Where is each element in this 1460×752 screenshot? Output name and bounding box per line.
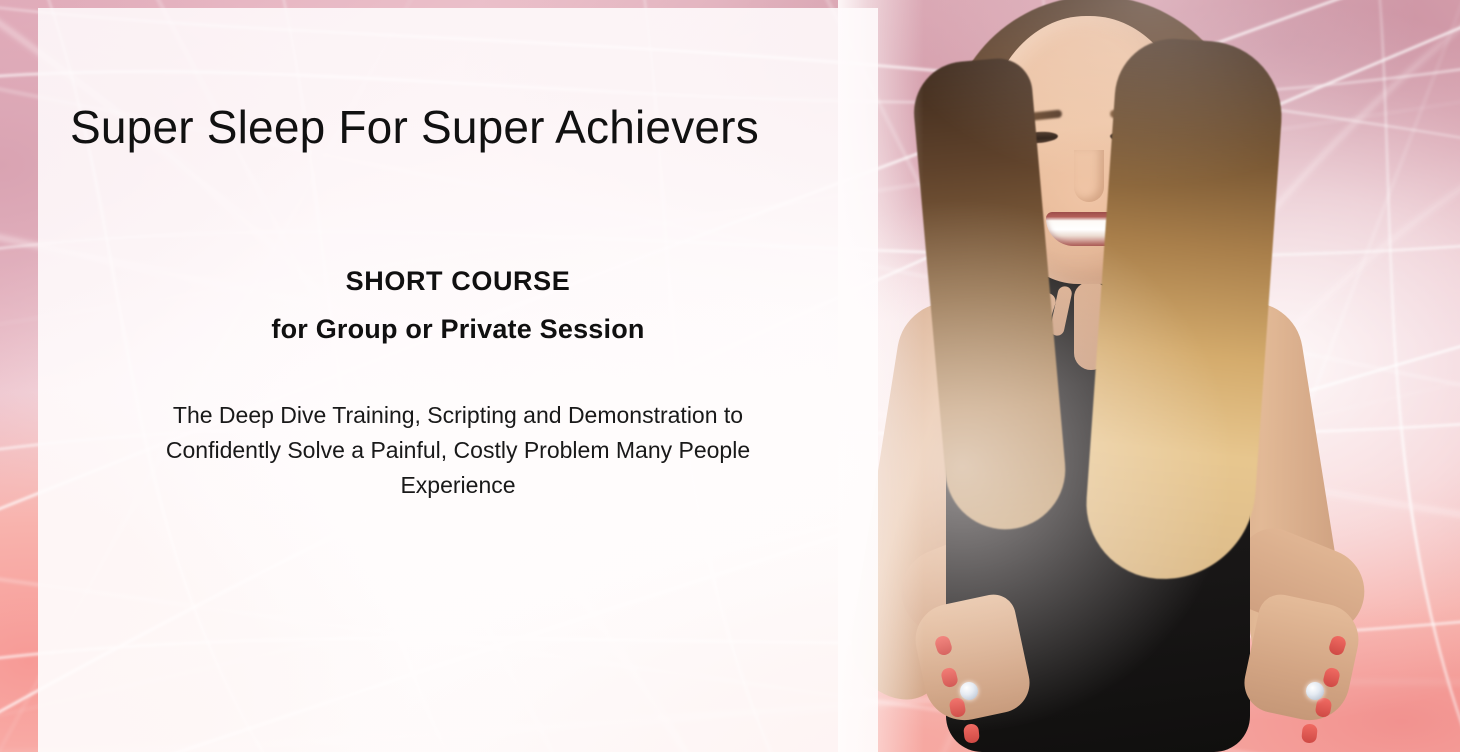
content-panel: Super Sleep For Super Achievers SHORT CO… [38,8,878,752]
course-type-label: SHORT COURSE [38,266,878,297]
nose [1074,150,1104,202]
course-description: The Deep Dive Training, Scripting and De… [122,398,794,503]
presenter-photo [838,0,1460,752]
fingernail [1301,723,1318,743]
ring-left-hand [960,682,978,700]
promo-banner: Super Sleep For Super Achievers SHORT CO… [0,0,1460,752]
page-title: Super Sleep For Super Achievers [70,100,846,154]
ring-right-hand [1306,682,1324,700]
fingernail [1314,697,1332,718]
fingernail [963,723,980,743]
course-format-label: for Group or Private Session [38,314,878,345]
